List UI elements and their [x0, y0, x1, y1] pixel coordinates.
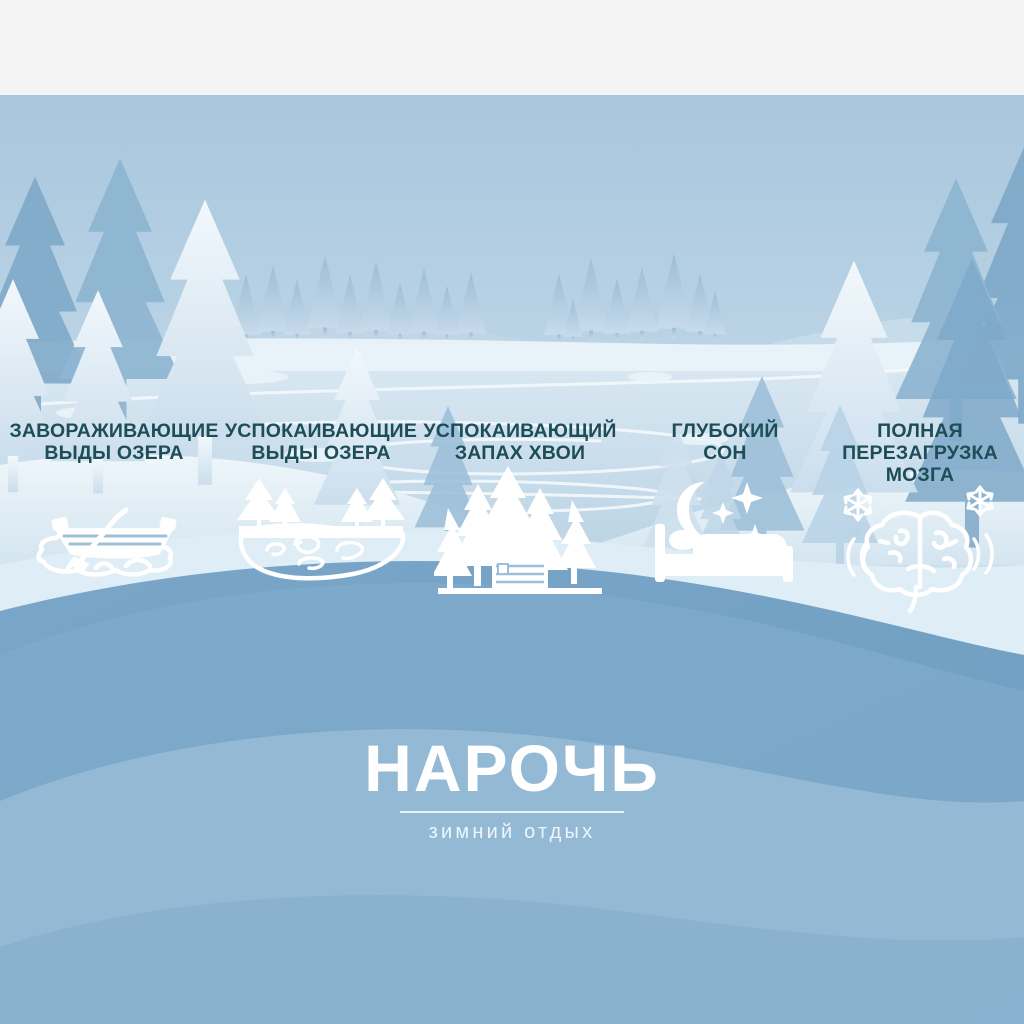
bed	[655, 524, 793, 582]
winter-landscape-scene: ЗАВОРАЖИВАЮЩИЕ ВЫДЫ ОЗЕРА	[0, 95, 1024, 1024]
brain-with-snowflakes-icon	[836, 483, 1004, 615]
feature-label: ПОЛНАЯ ПЕРЕЗАГРУЗКА МОЗГА	[820, 420, 1020, 487]
feature-label: ГЛУБОКИЙ СОН	[625, 420, 825, 464]
brain-stem	[910, 587, 916, 611]
feature-label: ЗАВОРАЖИВАЮЩИЕ ВЫДЫ ОЗЕРА	[6, 420, 222, 464]
frozen-lake-with-pines-icon	[233, 472, 409, 590]
crescent-moon	[677, 482, 705, 538]
cabin-in-pine-forest-icon	[434, 464, 606, 602]
snowflake-right	[968, 487, 992, 515]
snowflake-left	[845, 490, 871, 520]
bed-with-moon-and-stars-icon	[649, 476, 801, 586]
feature-deep-sleep[interactable]: ГЛУБОКИЙ СОН	[625, 420, 825, 586]
feature-calming-lake-views[interactable]: УСПОКАИВАЮЩИЕ ВЫДЫ ОЗЕРА	[221, 420, 421, 590]
brand-divider	[400, 811, 624, 813]
brain-outline	[863, 512, 971, 594]
feature-label: УСПОКАИВАЮЩИЕ ВЫДЫ ОЗЕРА	[221, 420, 421, 464]
brand-subtitle: зимний отдых	[0, 821, 1024, 844]
feature-mesmerizing-lake-views[interactable]: ЗАВОРАЖИВАЮЩИЕ ВЫДЫ ОЗЕРА	[6, 420, 222, 588]
feature-label: УСПОКАИВАЮЩИЙ ЗАПАХ ХВОИ	[418, 420, 622, 464]
poster: ЗАВОРАЖИВАЮЩИЕ ВЫДЫ ОЗЕРА	[0, 0, 1024, 1024]
brand-block: НАРОЧЬ зимний отдых	[0, 735, 1024, 844]
rowboat-on-water-icon	[34, 480, 194, 588]
feature-calming-pine-scent[interactable]: УСПОКАИВАЮЩИЙ ЗАПАХ ХВОИ	[418, 420, 622, 602]
brand-title: НАРОЧЬ	[0, 735, 1024, 801]
feature-full-brain-reboot[interactable]: ПОЛНАЯ ПЕРЕЗАГРУЗКА МОЗГА	[820, 420, 1020, 615]
